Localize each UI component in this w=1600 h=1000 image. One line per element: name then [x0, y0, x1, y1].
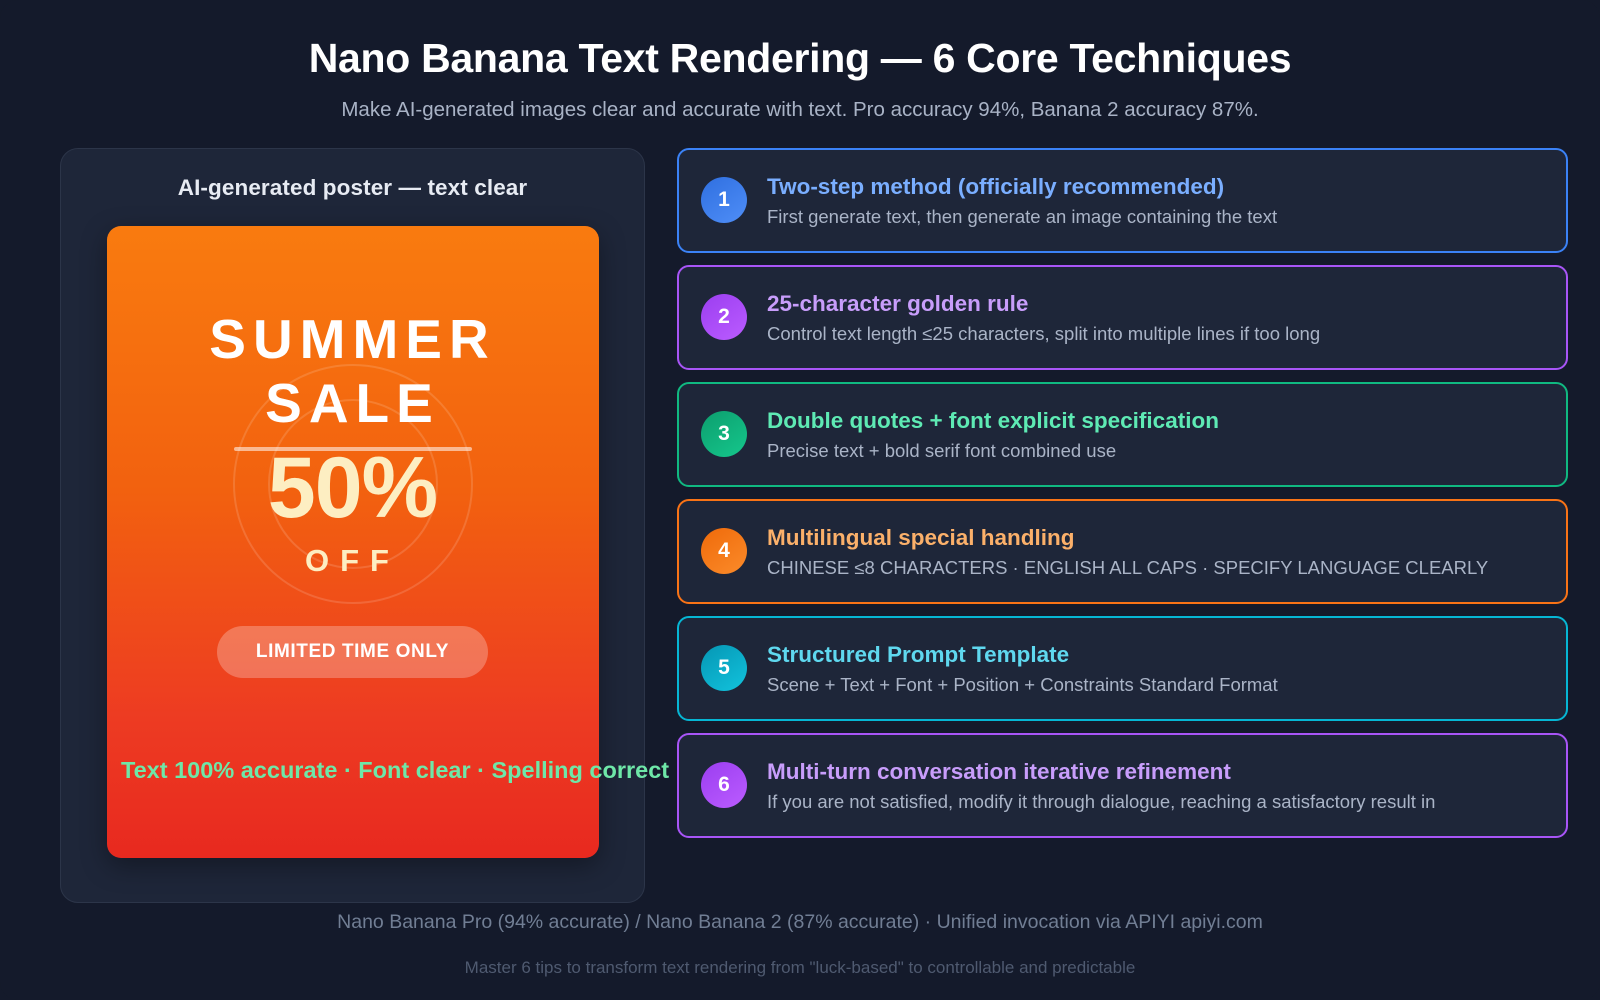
footer-secondary-text: Master 6 tips to transform text renderin… — [0, 958, 1600, 978]
technique-card-1[interactable]: 1 Two-step method (officially recommende… — [677, 148, 1568, 253]
technique-card-5[interactable]: 5 Structured Prompt Template Scene + Tex… — [677, 616, 1568, 721]
header: Nano Banana Text Rendering — 6 Core Tech… — [0, 0, 1600, 122]
technique-card-4[interactable]: 4 Multilingual special handling CHINESE … — [677, 499, 1568, 604]
technique-title-1: Two-step method (officially recommended) — [767, 173, 1548, 200]
technique-desc-2: Control text length ≤25 characters, spli… — [767, 323, 1548, 345]
technique-title-5: Structured Prompt Template — [767, 641, 1548, 668]
footer-primary-text: Nano Banana Pro (94% accurate) / Nano Ba… — [0, 911, 1600, 934]
poster-discount: 50% — [107, 443, 599, 533]
poster-headline-line2: SALE — [107, 372, 599, 436]
technique-card-6[interactable]: 6 Multi-turn conversation iterative refi… — [677, 733, 1568, 838]
technique-badge-4: 4 — [701, 528, 747, 574]
poster-panel: AI-generated poster — text clear SUMMER … — [60, 148, 645, 903]
technique-badge-1: 1 — [701, 177, 747, 223]
poster-headline-line1: SUMMER — [107, 308, 599, 372]
technique-desc-5: Scene + Text + Font + Position + Constra… — [767, 674, 1548, 696]
page-subtitle: Make AI-generated images clear and accur… — [0, 98, 1600, 122]
infographic-page: Nano Banana Text Rendering — 6 Core Tech… — [0, 0, 1600, 1000]
technique-badge-3: 3 — [701, 411, 747, 457]
poster-cta-button[interactable]: LIMITED TIME ONLY — [217, 626, 488, 678]
technique-card-2[interactable]: 2 25-character golden rule Control text … — [677, 265, 1568, 370]
technique-card-3[interactable]: 3 Double quotes + font explicit specific… — [677, 382, 1568, 487]
technique-title-3: Double quotes + font explicit specificat… — [767, 407, 1548, 434]
technique-desc-3: Precise text + bold serif font combined … — [767, 440, 1548, 462]
page-title: Nano Banana Text Rendering — 6 Core Tech… — [0, 36, 1600, 82]
technique-badge-2: 2 — [701, 294, 747, 340]
main-content: AI-generated poster — text clear SUMMER … — [0, 122, 1600, 903]
technique-badge-5: 5 — [701, 645, 747, 691]
technique-card-list: 1 Two-step method (officially recommende… — [677, 148, 1568, 838]
technique-desc-4: CHINESE ≤8 CHARACTERS · ENGLISH ALL CAPS… — [767, 557, 1548, 579]
technique-desc-1: First generate text, then generate an im… — [767, 206, 1548, 228]
technique-title-2: 25-character golden rule — [767, 290, 1548, 317]
poster-panel-heading: AI-generated poster — text clear — [85, 175, 620, 201]
technique-badge-6: 6 — [701, 762, 747, 808]
accuracy-note: Text 100% accurate · Font clear · Spelli… — [121, 757, 669, 784]
poster-off-label: OFF — [107, 543, 599, 579]
technique-desc-6: If you are not satisfied, modify it thro… — [767, 791, 1548, 813]
footer: Nano Banana Pro (94% accurate) / Nano Ba… — [0, 911, 1600, 978]
technique-title-6: Multi-turn conversation iterative refine… — [767, 758, 1548, 785]
technique-title-4: Multilingual special handling — [767, 524, 1548, 551]
